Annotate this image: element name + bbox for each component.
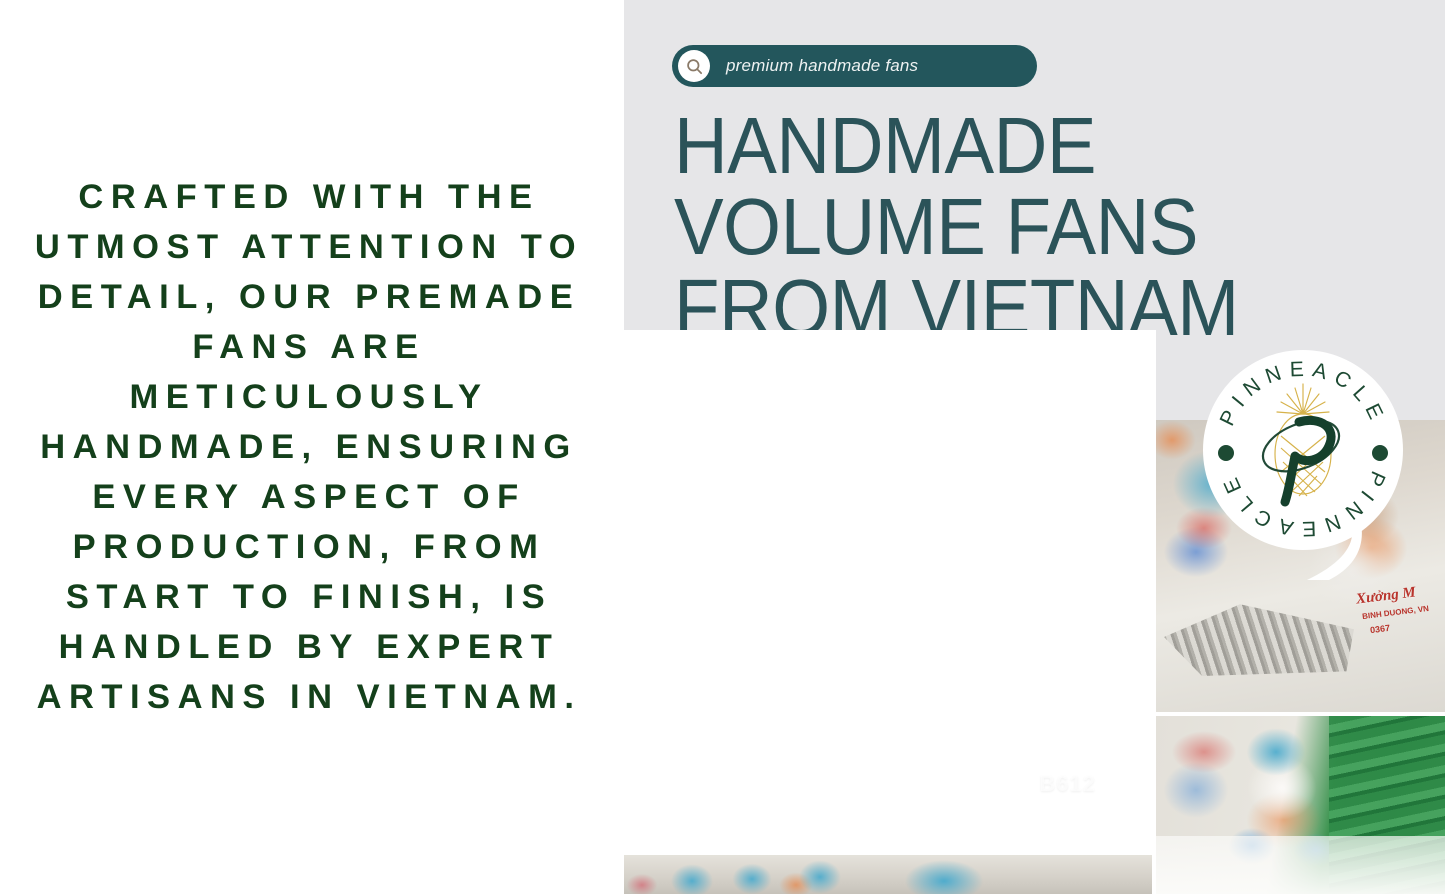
logo-bottom-text: PINNEACLE: [1216, 468, 1389, 541]
workshop-row-photo: [624, 855, 1152, 894]
worker-green-trays-photo: [1156, 716, 1445, 894]
search-bar[interactable]: premium handmade fans: [672, 45, 1037, 87]
svg-text:PINNEACLE: PINNEACLE: [1216, 468, 1389, 541]
logo-dot-right: [1372, 445, 1388, 461]
logo-artwork: PINNEACLE PINNEACLE: [1203, 350, 1403, 550]
pineapple-icon: [1275, 384, 1331, 496]
photo-collage: B612 Xưởng M BINH DUONG, VN 0367: [624, 330, 1445, 894]
photo-watermark: B612: [1039, 771, 1096, 797]
factory-workers-photo: B612: [624, 330, 1152, 845]
photo-arc-white-band: [624, 330, 1152, 845]
body-copy: CRAFTED WITH THE UTMOST ATTENTION TO DET…: [24, 172, 600, 722]
collage-divider-bottom-horizontal: [624, 845, 1152, 855]
collage-divider-vertical: [1152, 330, 1156, 894]
logo-dot-left: [1218, 445, 1234, 461]
search-icon[interactable]: [678, 50, 710, 82]
left-text-panel: CRAFTED WITH THE UTMOST ATTENTION TO DET…: [0, 0, 624, 894]
logo-monogram: [1256, 411, 1347, 502]
collage-divider-right-horizontal: [1156, 712, 1445, 716]
right-visual-panel: premium handmade fans HANDMADE VOLUME FA…: [624, 0, 1445, 894]
promo-banner: CRAFTED WITH THE UTMOST ATTENTION TO DET…: [0, 0, 1445, 894]
search-input-value[interactable]: premium handmade fans: [726, 56, 918, 76]
shopping-cart-icon: [716, 718, 758, 752]
pinneacle-logo: PINNEACLE PINNEACLE: [1203, 350, 1403, 550]
photo-image: [624, 855, 1152, 894]
photo-bench-surface: [1156, 836, 1445, 894]
page-title: HANDMADE VOLUME FANS FROM VIETNAM: [674, 105, 1381, 348]
